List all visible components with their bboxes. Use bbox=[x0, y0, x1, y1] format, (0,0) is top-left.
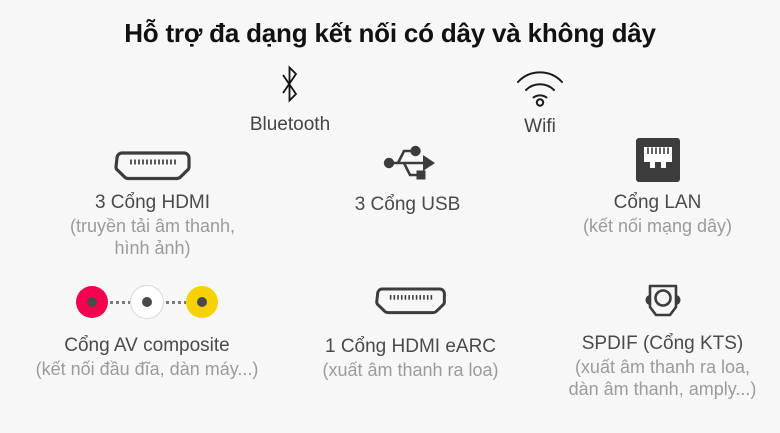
feature-av-composite: Cổng AV composite (kết nối đầu đĩa, dàn … bbox=[12, 283, 282, 381]
hdmi-icon-wrap bbox=[25, 140, 280, 184]
hdmi-earc-sublabel-line1: (xuất âm thanh ra loa) bbox=[293, 360, 528, 382]
hdmi-earc-sublabel: (xuất âm thanh ra loa) bbox=[293, 360, 528, 382]
lan-port-icon bbox=[635, 137, 681, 183]
av-plug-audio-left-icon bbox=[130, 285, 164, 319]
hdmi-port-icon bbox=[373, 286, 449, 318]
spdif-icon-wrap bbox=[545, 281, 780, 321]
usb-icon-wrap bbox=[310, 138, 505, 184]
feature-hdmi: 3 Cổng HDMI (truyền tải âm thanh, hình ả… bbox=[25, 140, 280, 260]
av-plug-video-icon bbox=[76, 286, 108, 318]
page-title: Hỗ trợ đa dạng kết nối có dây và không d… bbox=[0, 18, 780, 49]
av-composite-sublabel: (kết nối đầu đĩa, dàn máy...) bbox=[12, 359, 282, 381]
feature-hdmi-earc: 1 Cổng HDMI eARC (xuất âm thanh ra loa) bbox=[293, 286, 528, 382]
av-dotted-connector-left bbox=[108, 301, 130, 304]
hdmi-sublabel: (truyền tải âm thanh, hình ảnh) bbox=[25, 216, 280, 259]
spdif-sublabel-line1: (xuất âm thanh ra loa, bbox=[545, 357, 780, 379]
hdmi-label: 3 Cổng HDMI bbox=[25, 192, 280, 214]
av-dotted-connector-right bbox=[164, 301, 186, 304]
wifi-icon bbox=[514, 68, 566, 108]
spdif-label: SPDIF (Cổng KTS) bbox=[545, 333, 780, 355]
lan-label: Cổng LAN bbox=[535, 192, 780, 214]
av-icon-wrap bbox=[12, 283, 282, 319]
bluetooth-icon bbox=[277, 62, 303, 108]
av-composite-icon bbox=[76, 285, 218, 319]
bluetooth-label: Bluetooth bbox=[200, 114, 380, 136]
lan-sublabel: (kết nối mạng dây) bbox=[535, 216, 780, 238]
bluetooth-icon-wrap bbox=[200, 62, 380, 108]
av-plug-audio-right-icon bbox=[186, 286, 218, 318]
feature-spdif: SPDIF (Cổng KTS) (xuất âm thanh ra loa, … bbox=[545, 281, 780, 401]
spdif-sublabel-line2: dàn âm thanh, amply...) bbox=[545, 379, 780, 401]
hdmi-earc-icon-wrap bbox=[293, 286, 528, 318]
spdif-optical-icon bbox=[639, 281, 687, 321]
usb-icon bbox=[378, 142, 438, 184]
av-composite-label: Cổng AV composite bbox=[12, 335, 282, 357]
infographic-page: Hỗ trợ đa dạng kết nối có dây và không d… bbox=[0, 0, 780, 433]
hdmi-port-icon bbox=[112, 150, 194, 184]
hdmi-sublabel-line1: (truyền tải âm thanh, bbox=[25, 216, 280, 238]
feature-usb: 3 Cổng USB bbox=[310, 138, 505, 216]
wifi-icon-wrap bbox=[455, 68, 625, 108]
lan-sublabel-line1: (kết nối mạng dây) bbox=[535, 216, 780, 238]
hdmi-earc-label: 1 Cổng HDMI eARC bbox=[293, 336, 528, 358]
spdif-sublabel: (xuất âm thanh ra loa, dàn âm thanh, amp… bbox=[545, 357, 780, 400]
usb-label: 3 Cổng USB bbox=[310, 194, 505, 216]
feature-bluetooth: Bluetooth bbox=[200, 62, 380, 136]
hdmi-sublabel-line2: hình ảnh) bbox=[25, 238, 280, 260]
lan-icon-wrap bbox=[535, 133, 780, 183]
av-composite-sublabel-line1: (kết nối đầu đĩa, dàn máy...) bbox=[12, 359, 282, 381]
feature-lan: Cổng LAN (kết nối mạng dây) bbox=[535, 133, 780, 238]
feature-wifi: Wifi bbox=[455, 68, 625, 138]
